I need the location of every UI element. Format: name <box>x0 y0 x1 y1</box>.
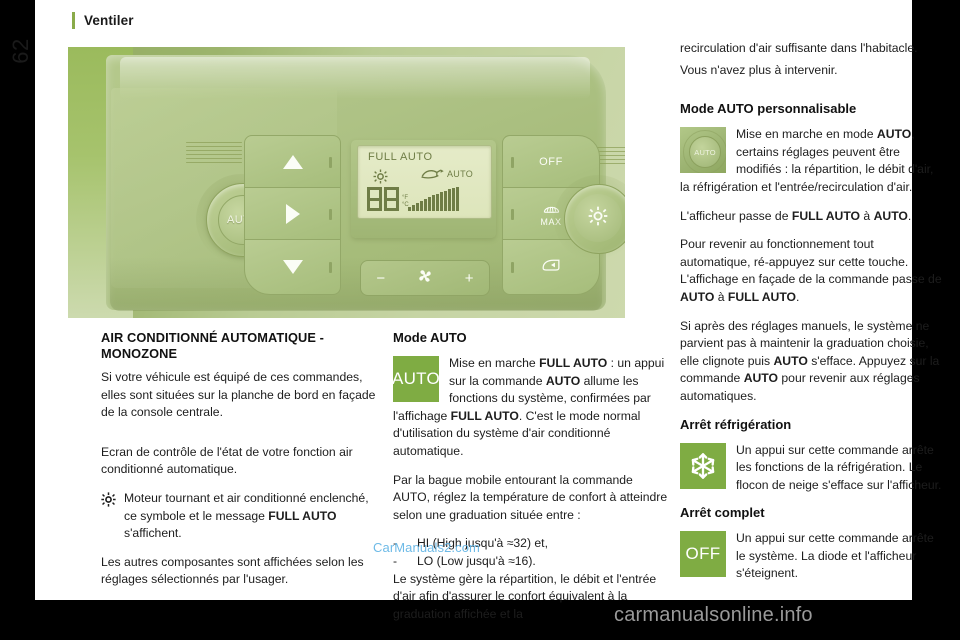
r-p1-b: AUTO <box>877 127 911 141</box>
header-accent-bar <box>72 12 75 29</box>
r-p1-a: Mise en marche en mode <box>736 127 877 141</box>
mid-p1-b2: AUTO <box>546 374 580 388</box>
right-paragraph-4: Si après des réglages manuels, le systèm… <box>680 318 942 406</box>
r-p3-a: Pour revenir au fonctionnement tout auto… <box>680 237 942 286</box>
header-title: Ventiler <box>84 13 134 28</box>
lcd-ac-sun-icon <box>373 169 388 189</box>
grille-lines-left-icon <box>186 142 242 166</box>
r-p3-d: . <box>796 290 799 304</box>
r-p3-b1: AUTO <box>680 290 714 304</box>
watermark-carmanuals2: CarManuals2.com <box>373 540 480 555</box>
auto-knob-icon-label: AUTO <box>694 148 716 157</box>
sun-icon <box>588 206 608 231</box>
right-text-column: recirculation d'air suffisante dans l'ha… <box>680 40 942 594</box>
fan-plus-button[interactable]: + <box>465 271 474 286</box>
section-heading-arret-refrigeration: Arrêt réfrigération <box>680 417 942 433</box>
snowflake-icon <box>680 443 726 489</box>
list-dash: - <box>393 553 417 571</box>
right-paragraph-2: L'afficheur passe de FULL AUTO à AUTO. <box>680 208 942 226</box>
fan-icon <box>416 267 434 290</box>
section-heading-mode-auto-personnalisable: Mode AUTO personnalisable <box>680 101 942 117</box>
auto-button-icon: AUTO <box>393 356 439 402</box>
arrow-up-icon <box>283 155 303 169</box>
arret-refrigeration-icon-block: Un appui sur cette commande arrête les f… <box>680 442 942 506</box>
left-bullet-text-part2: s'affichent. <box>124 526 182 540</box>
mid-p1-b1: FULL AUTO <box>539 356 607 370</box>
auto-personnalisable-icon-block: AUTO Mise en marche en mode AUTO, certai… <box>680 126 942 207</box>
arrow-down-icon <box>283 260 303 274</box>
seven-segment-digit <box>384 187 399 211</box>
led-indicator <box>329 157 332 168</box>
arrow-right-icon <box>286 204 300 224</box>
running-header: Ventiler <box>72 12 134 29</box>
left-paragraph-2: Ecran de contrôle de l'état de votre fon… <box>101 444 381 479</box>
led-indicator <box>329 262 332 273</box>
fan-minus-button[interactable]: − <box>376 271 385 286</box>
r-p2-a: L'afficheur passe de <box>680 209 792 223</box>
middle-text-column: Mode AUTO AUTO Mise en marche FULL AUTO … <box>393 330 669 623</box>
mid-p1-a: Mise en marche <box>449 356 539 370</box>
list-item-text: LO (Low jusqu'à ≈16). <box>417 553 536 571</box>
off-button-label: OFF <box>539 156 563 168</box>
lcd-recirc-label: AUTO <box>447 169 473 179</box>
mode-auto-icon-block: AUTO Mise en marche FULL AUTO : un appui… <box>393 355 669 472</box>
middle-paragraph-2: Par la bague mobile entourant la command… <box>393 472 669 525</box>
r-p2-c: à <box>860 209 874 223</box>
distribution-down-button[interactable] <box>244 239 341 295</box>
left-paragraph-3: Les autres composantes sont affichées se… <box>101 554 381 589</box>
r-p3-b2: FULL AUTO <box>728 290 796 304</box>
right-paragraph-top-2: Vous n'avez plus à intervenir. <box>680 62 942 80</box>
seven-segment-digit <box>367 187 382 211</box>
left-bullet-text: Moteur tournant et air conditionné encle… <box>124 490 381 543</box>
r-p2-d: . <box>908 209 911 223</box>
led-indicator <box>511 157 514 168</box>
footer-brand-carmanualsonline: carmanualsonline.info <box>614 604 813 627</box>
recirculation-icon <box>540 257 562 278</box>
off-button-icon: OFF <box>680 531 726 577</box>
led-indicator <box>329 209 332 220</box>
right-paragraph-top-1: recirculation d'air suffisante dans l'ha… <box>680 40 942 58</box>
left-paragraph-1: Si votre véhicule est équipé de ces comm… <box>101 369 381 422</box>
r-p3-c: à <box>714 290 728 304</box>
arret-complet-icon-block: OFF Un appui sur cette commande arrête l… <box>680 530 942 594</box>
middle-list-item-2: - LO (Low jusqu'à ≈16). <box>393 553 669 571</box>
left-bullet-block: Moteur tournant et air conditionné encle… <box>101 490 381 543</box>
section-heading-air-conditionne: AIR CONDITIONNÉ AUTOMATIQUE - MONOZONE <box>101 330 381 362</box>
off-icon-label: OFF <box>686 544 721 564</box>
left-bullet-bold: FULL AUTO <box>268 509 336 523</box>
lcd-mode-text: FULL AUTO <box>368 151 433 163</box>
distribution-right-button[interactable] <box>244 187 341 241</box>
led-indicator <box>511 262 514 273</box>
distribution-up-button[interactable] <box>244 135 341 189</box>
r-p4-b2: AUTO <box>744 371 778 385</box>
auto-icon-label: AUTO <box>392 369 440 389</box>
lcd-temperature-digits: °F °C <box>367 187 409 211</box>
r-p2-b2: AUTO <box>874 209 908 223</box>
section-heading-mode-auto: Mode AUTO <box>393 330 669 346</box>
grille-lines-right-icon <box>596 147 625 167</box>
r-p4-b1: AUTO <box>774 354 808 368</box>
temperature-knob-button[interactable] <box>574 194 622 242</box>
page-sheet: Ventiler AUTO <box>35 0 912 600</box>
r-p2-b1: FULL AUTO <box>792 209 860 223</box>
climate-control-panel-photo: AUTO FULL AUTO <box>68 47 625 318</box>
left-text-column: AIR CONDITIONNÉ AUTOMATIQUE - MONOZONE S… <box>101 330 381 589</box>
mid-p1-b3: FULL AUTO <box>451 409 519 423</box>
sun-icon <box>101 492 116 512</box>
page-number: 62 <box>8 36 34 66</box>
lcd-fan-speed-bars <box>408 187 459 211</box>
fan-speed-rocker[interactable]: − + <box>360 260 490 296</box>
led-indicator <box>511 209 514 220</box>
auto-knob-icon: AUTO <box>680 127 726 173</box>
right-paragraph-3: Pour revenir au fonctionnement tout auto… <box>680 236 942 306</box>
lcd-air-intake-auto-indicator: AUTO <box>420 167 473 181</box>
section-heading-arret-complet: Arrêt complet <box>680 505 942 521</box>
